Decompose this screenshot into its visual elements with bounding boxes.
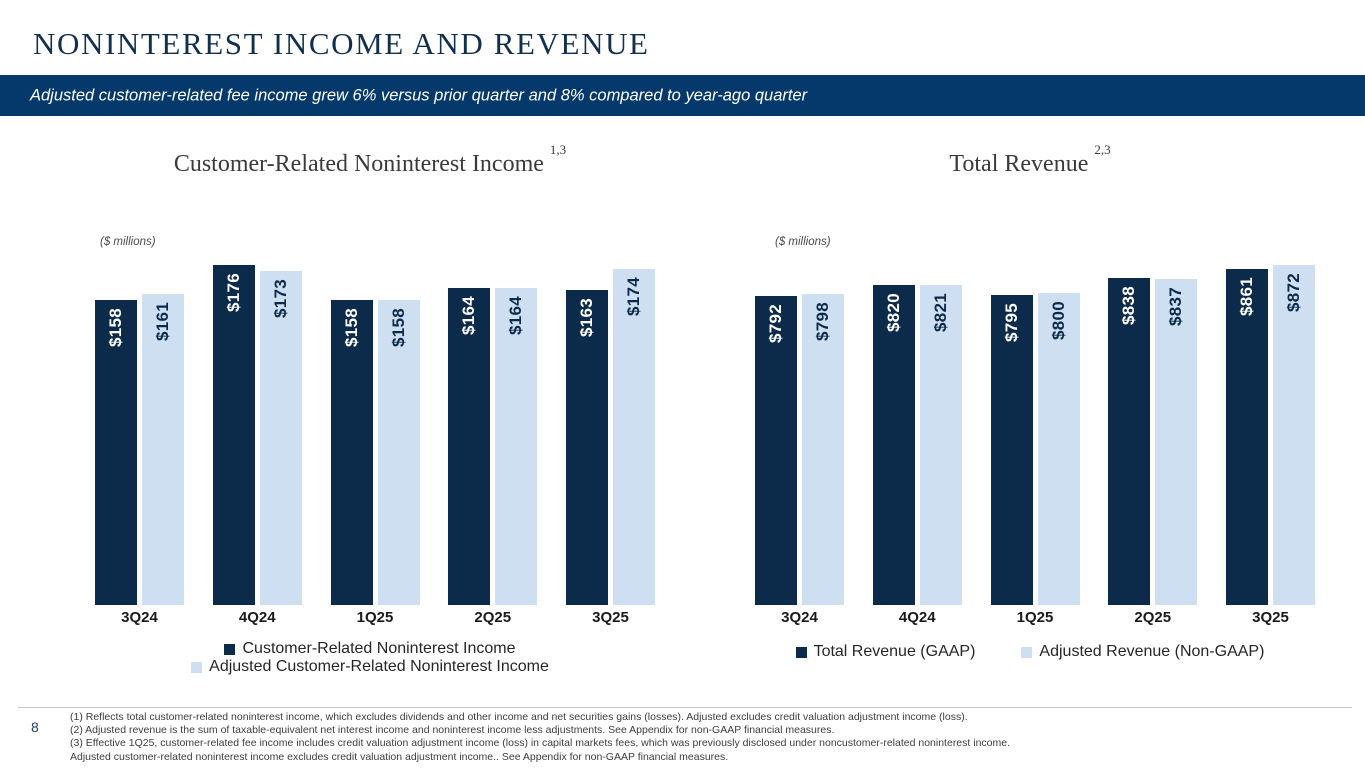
plot-area-right: $792$798$820$821$795$800$838$837$861$872 xyxy=(720,260,1340,605)
bar-adjusted[interactable]: $798 xyxy=(802,294,844,605)
legend-item-adjusted[interactable]: Adjusted Customer-Related Noninterest In… xyxy=(191,658,549,676)
legend-label: Total Revenue (GAAP) xyxy=(814,643,976,661)
legend-right: Total Revenue (GAAP) Adjusted Revenue (N… xyxy=(720,643,1340,661)
x-axis-right: 3Q244Q241Q252Q253Q25 xyxy=(755,609,1315,626)
chart-panel-customer-related-noninterest-income: Customer-Related Noninterest Income 1,3 … xyxy=(60,140,680,700)
bar-value-label: $158 xyxy=(342,308,362,347)
bar-gaap[interactable]: $861 xyxy=(1226,269,1268,605)
bar-group: $820$821 xyxy=(873,260,962,605)
bar-value-label: $798 xyxy=(813,302,833,341)
legend-item-gaap[interactable]: Total Revenue (GAAP) xyxy=(796,643,976,661)
legend-item-adjusted[interactable]: Adjusted Revenue (Non-GAAP) xyxy=(1021,643,1264,661)
legend-swatch-icon xyxy=(191,662,202,673)
bar-value-label: $176 xyxy=(224,273,244,312)
bar-value-label: $161 xyxy=(153,302,173,341)
units-label-right: ($ millions) xyxy=(775,236,831,248)
bar-value-label: $861 xyxy=(1237,277,1257,316)
bar-group: $163$174 xyxy=(566,260,655,605)
legend-label: Adjusted Customer-Related Noninterest In… xyxy=(209,658,549,676)
bar-value-label: $837 xyxy=(1166,287,1186,326)
bar-value-label: $792 xyxy=(766,304,786,343)
x-axis-left: 3Q244Q241Q252Q253Q25 xyxy=(95,609,655,626)
x-axis-tick-label: 3Q25 xyxy=(566,609,655,626)
chart-title-right-text: Total Revenue xyxy=(949,151,1088,177)
bar-value-label: $158 xyxy=(389,308,409,347)
bar-gaap[interactable]: $176 xyxy=(213,265,255,605)
bar-gaap[interactable]: $795 xyxy=(991,295,1033,605)
x-axis-tick-label: 2Q25 xyxy=(1108,609,1197,626)
chart-title-left-footnote-marker: 1,3 xyxy=(550,142,566,157)
bar-value-label: $838 xyxy=(1119,286,1139,325)
bar-value-label: $800 xyxy=(1049,301,1069,340)
bar-group: $176$173 xyxy=(213,260,302,605)
bar-gaap[interactable]: $838 xyxy=(1108,278,1150,605)
x-axis-tick-label: 2Q25 xyxy=(448,609,537,626)
legend-swatch-icon xyxy=(1021,647,1032,658)
bar-adjusted[interactable]: $161 xyxy=(142,294,184,605)
bar-value-label: $164 xyxy=(459,296,479,335)
chart-title-left-text: Customer-Related Noninterest Income xyxy=(174,151,544,177)
bar-gaap[interactable]: $158 xyxy=(95,300,137,605)
bar-group: $164$164 xyxy=(448,260,537,605)
footnote-line: (1) Reflects total customer-related noni… xyxy=(70,711,1250,724)
bar-value-label: $821 xyxy=(931,293,951,332)
bar-value-label: $174 xyxy=(624,277,644,316)
footer-divider xyxy=(18,707,1352,708)
page-title: NONINTEREST INCOME AND REVENUE xyxy=(33,26,650,62)
legend-swatch-icon xyxy=(796,647,807,658)
bar-value-label: $163 xyxy=(577,298,597,337)
bar-value-label: $795 xyxy=(1002,303,1022,342)
bar-gaap[interactable]: $164 xyxy=(448,288,490,605)
bar-adjusted[interactable]: $164 xyxy=(495,288,537,605)
page-number: 8 xyxy=(31,719,39,735)
footnotes: (1) Reflects total customer-related noni… xyxy=(70,711,1250,764)
bar-gaap[interactable]: $163 xyxy=(566,290,608,605)
bar-groups-left: $158$161$176$173$158$158$164$164$163$174 xyxy=(95,260,655,605)
bar-group: $838$837 xyxy=(1108,260,1197,605)
bar-gaap[interactable]: $820 xyxy=(873,285,915,605)
bar-group: $158$161 xyxy=(95,260,184,605)
legend-row: Adjusted Customer-Related Noninterest In… xyxy=(60,658,680,676)
bar-adjusted[interactable]: $837 xyxy=(1155,279,1197,605)
bar-group: $795$800 xyxy=(991,260,1080,605)
bar-value-label: $820 xyxy=(884,293,904,332)
chart-title-right-footnote-marker: 2,3 xyxy=(1094,142,1110,157)
bar-adjusted[interactable]: $158 xyxy=(378,300,420,605)
bar-gaap[interactable]: $158 xyxy=(331,300,373,605)
chart-title-left: Customer-Related Noninterest Income 1,3 xyxy=(60,150,680,178)
subtitle-text: Adjusted customer-related fee income gre… xyxy=(30,86,807,105)
bar-adjusted[interactable]: $800 xyxy=(1038,293,1080,605)
x-axis-tick-label: 4Q24 xyxy=(213,609,302,626)
bar-adjusted[interactable]: $821 xyxy=(920,285,962,605)
chart-panel-total-revenue: Total Revenue 2,3 ($ millions) $792$798$… xyxy=(720,140,1340,700)
legend-swatch-icon xyxy=(224,644,235,655)
bar-value-label: $164 xyxy=(506,296,526,335)
bar-value-label: $158 xyxy=(106,308,126,347)
bar-group: $792$798 xyxy=(755,260,844,605)
x-axis-tick-label: 4Q24 xyxy=(873,609,962,626)
legend-item-gaap[interactable]: Customer-Related Noninterest Income xyxy=(224,640,515,658)
bar-value-label: $872 xyxy=(1284,273,1304,312)
x-axis-tick-label: 1Q25 xyxy=(991,609,1080,626)
bar-groups-right: $792$798$820$821$795$800$838$837$861$872 xyxy=(755,260,1315,605)
bar-group: $158$158 xyxy=(331,260,420,605)
legend-label: Adjusted Revenue (Non-GAAP) xyxy=(1039,643,1264,661)
bar-gaap[interactable]: $792 xyxy=(755,296,797,605)
legend-label: Customer-Related Noninterest Income xyxy=(242,640,515,658)
plot-area-left: $158$161$176$173$158$158$164$164$163$174 xyxy=(60,260,680,605)
units-label-left: ($ millions) xyxy=(100,236,156,248)
bar-adjusted[interactable]: $174 xyxy=(613,269,655,605)
footnote-line: (2) Adjusted revenue is the sum of taxab… xyxy=(70,724,1250,737)
bar-group: $861$872 xyxy=(1226,260,1315,605)
footnote-line: (3) Effective 1Q25, customer-related fee… xyxy=(70,737,1250,750)
x-axis-tick-label: 3Q24 xyxy=(755,609,844,626)
bar-adjusted[interactable]: $173 xyxy=(260,271,302,605)
footnote-line: Adjusted customer-related noninterest in… xyxy=(70,751,1250,764)
chart-title-right: Total Revenue 2,3 xyxy=(720,150,1340,178)
x-axis-tick-label: 3Q25 xyxy=(1226,609,1315,626)
x-axis-tick-label: 3Q24 xyxy=(95,609,184,626)
x-axis-tick-label: 1Q25 xyxy=(331,609,420,626)
legend-row: Customer-Related Noninterest Income xyxy=(60,640,680,658)
subtitle-banner: Adjusted customer-related fee income gre… xyxy=(0,75,1365,116)
bar-value-label: $173 xyxy=(271,279,291,318)
bar-adjusted[interactable]: $872 xyxy=(1273,265,1315,605)
legend-left: Customer-Related Noninterest Income Adju… xyxy=(60,640,680,676)
